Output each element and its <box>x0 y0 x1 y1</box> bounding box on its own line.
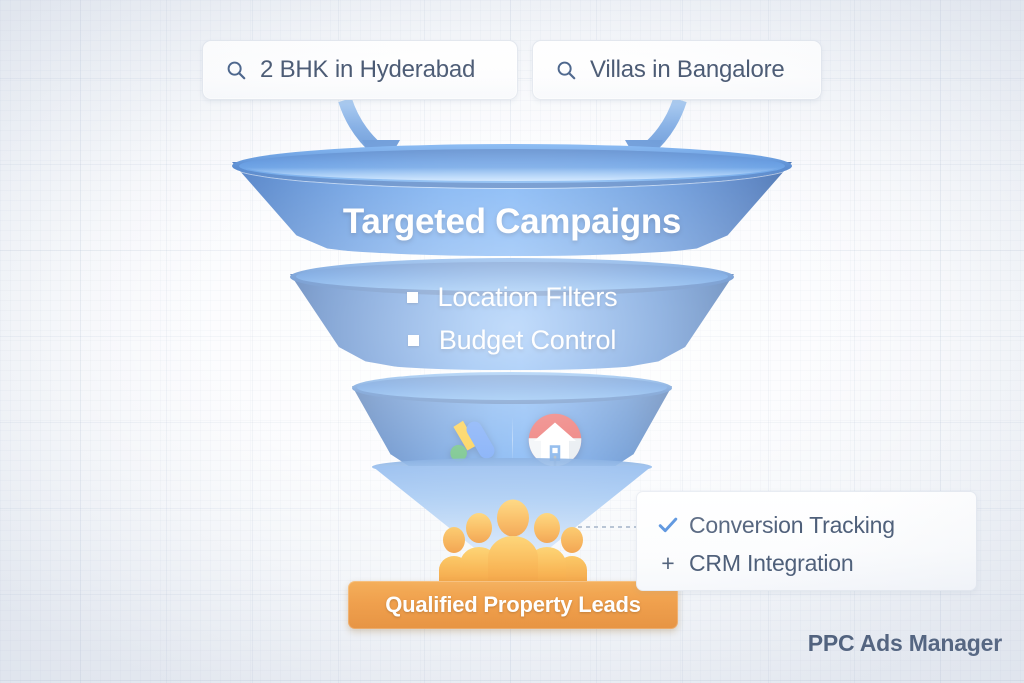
list-item: Location Filters <box>407 282 618 313</box>
funnel-tier-filters[interactable]: Location Filters Budget Control <box>290 258 734 370</box>
tracking-info-card[interactable]: Conversion Tracking + CRM Integration <box>636 491 977 591</box>
brand-label: PPC Ads Manager <box>808 630 1002 657</box>
square-bullet-icon <box>408 335 419 346</box>
bullet-label: Location Filters <box>438 282 618 313</box>
square-bullet-icon <box>407 292 418 303</box>
banner-label: Qualified Property Leads <box>385 592 641 618</box>
tier-rim-inner <box>357 375 667 400</box>
dotted-connector <box>578 526 636 528</box>
tier-rim-highlight <box>243 151 781 181</box>
bullet-label: Budget Control <box>439 325 616 356</box>
search-chip-label: Villas in Bangalore <box>590 56 785 84</box>
search-chip-hyderabad[interactable]: 2 BHK in Hyderabad <box>202 40 518 100</box>
group-of-people-icon <box>438 498 588 590</box>
plus-icon: + <box>657 550 679 577</box>
card-row-label: Conversion Tracking <box>689 512 895 539</box>
list-item: Budget Control <box>408 325 616 356</box>
search-chip-label: 2 BHK in Hyderabad <box>260 56 475 84</box>
check-icon <box>657 514 679 536</box>
search-icon <box>225 59 247 81</box>
search-icon <box>555 59 577 81</box>
funnel-tier-2-bullet-list: Location Filters Budget Control <box>290 282 734 356</box>
list-item: + CRM Integration <box>657 544 956 582</box>
list-item: Conversion Tracking <box>657 506 956 544</box>
infographic-canvas: 2 BHK in Hyderabad Villas in Bangalore T… <box>0 0 1024 683</box>
qualified-leads-banner[interactable]: Qualified Property Leads <box>348 581 678 629</box>
logo-divider <box>512 417 513 463</box>
funnel-tier-targeted-campaigns[interactable]: Targeted Campaigns <box>232 144 792 256</box>
card-row-label: CRM Integration <box>689 550 853 577</box>
search-chip-bangalore[interactable]: Villas in Bangalore <box>532 40 822 100</box>
